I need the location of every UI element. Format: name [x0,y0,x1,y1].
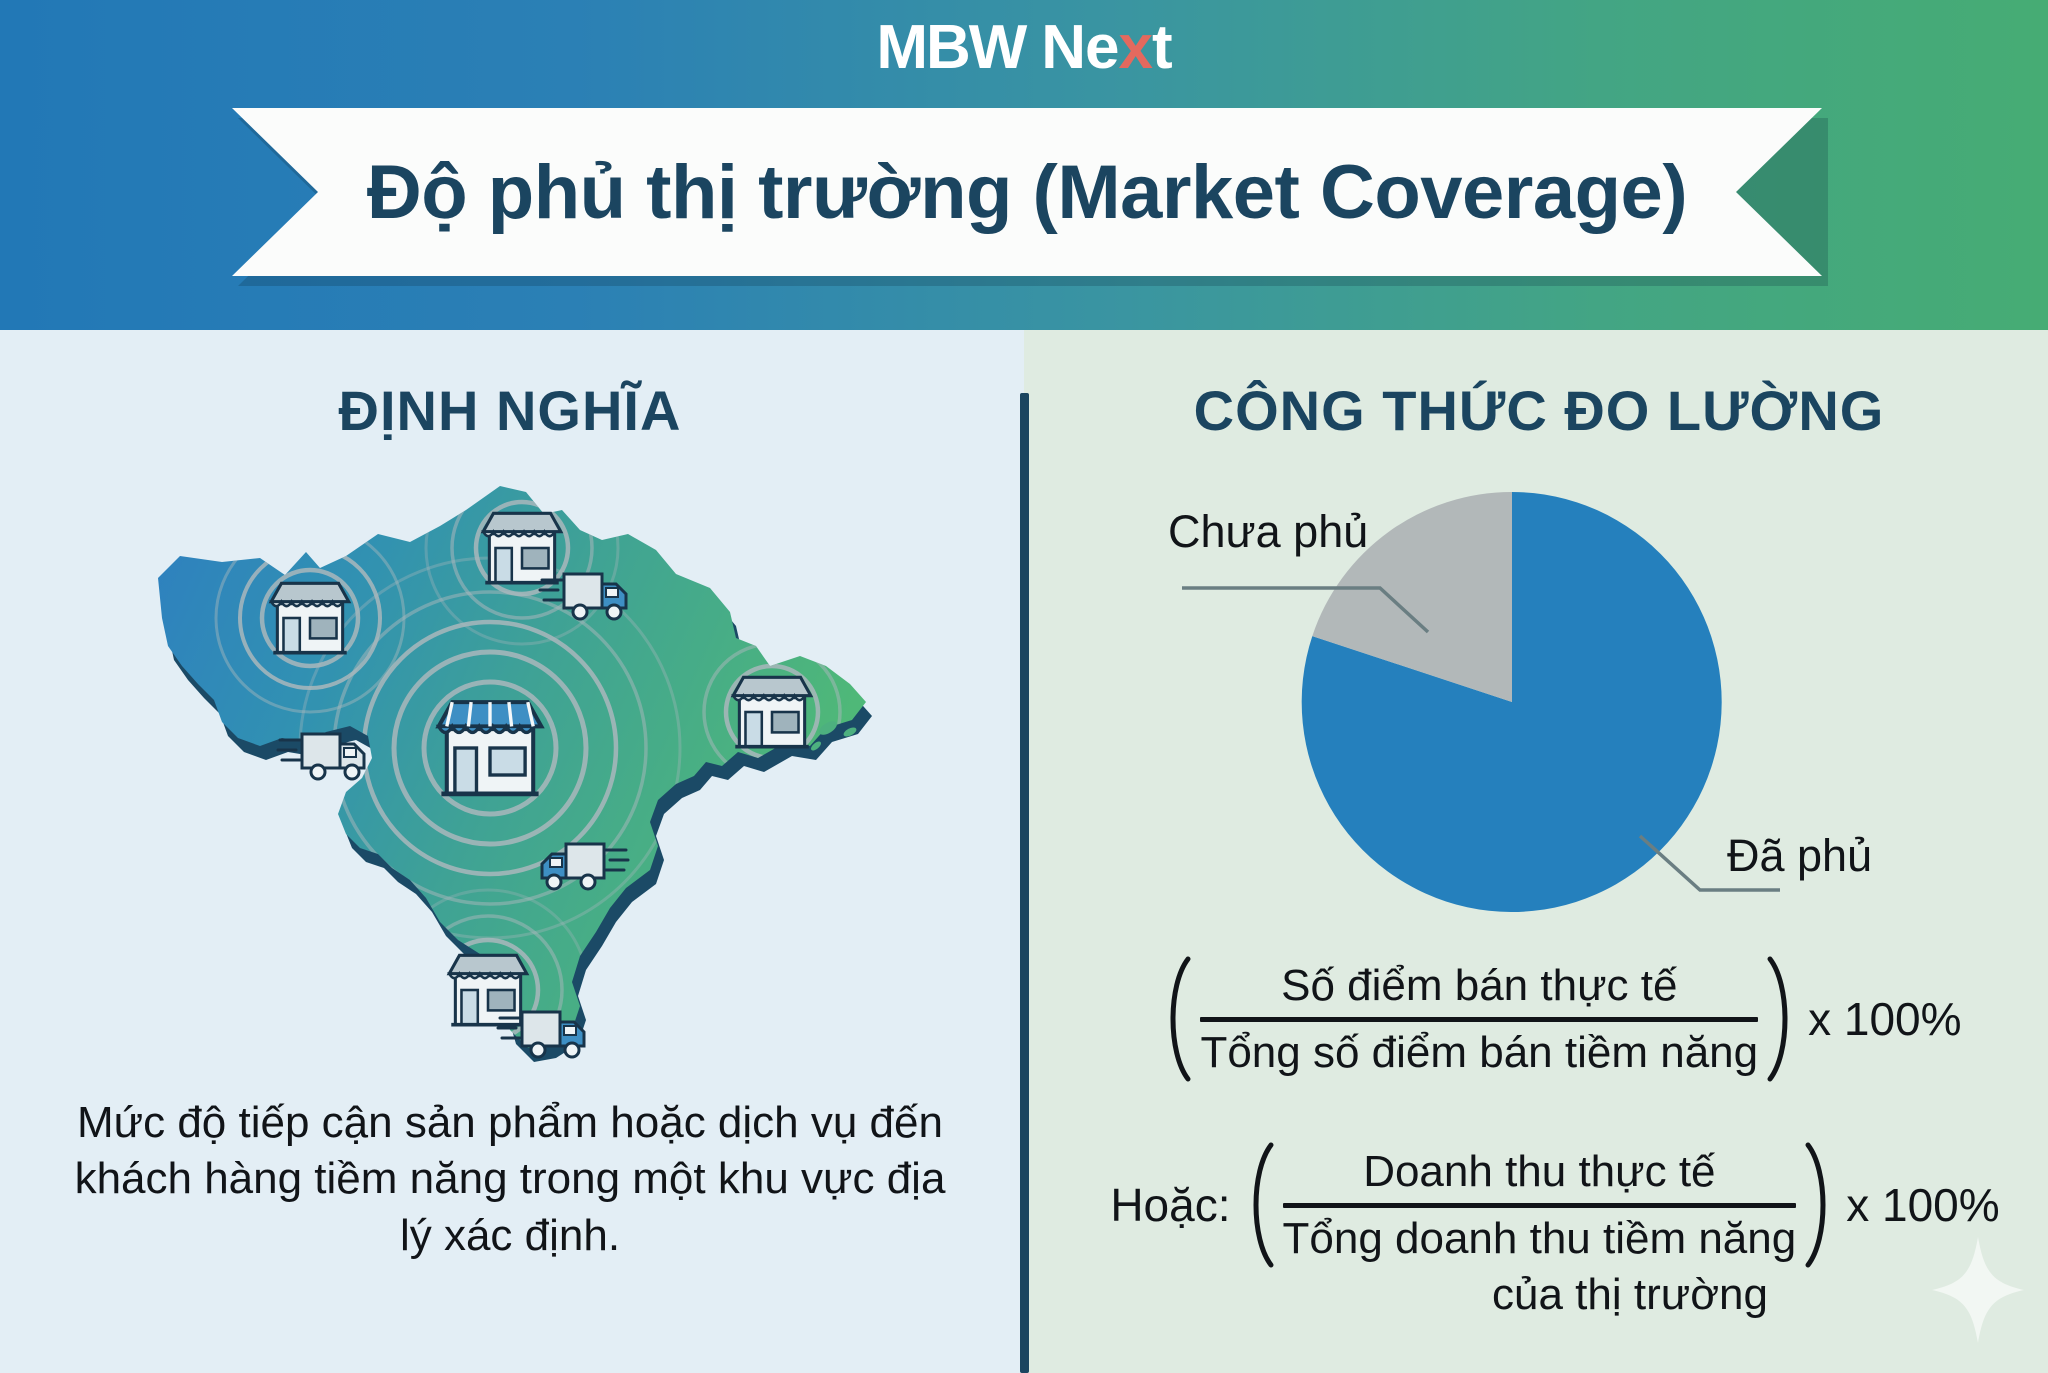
store-icon [271,583,349,652]
ribbon-plate: Độ phủ thị trường (Market Coverage) [232,108,1822,276]
formula-list: Số điểm bán thực tế Tổng số điểm bán tiề… [1080,955,2030,1320]
definition-text: Mức độ tiếp cận sản phẩm hoặc dịch vụ đế… [60,1095,960,1264]
formula-heading: CÔNG THỨC ĐO LƯỜNG [1030,378,2048,443]
fraction-2: Doanh thu thực tế Tổng doanh thu tiềm nă… [1275,1146,1805,1263]
fraction-bar-2 [1283,1203,1797,1208]
right-paren-1 [1766,955,1800,1083]
denominator-2: Tổng doanh thu tiềm năng [1283,1213,1797,1264]
formula-prefix-2: Hoặc: [1110,1178,1230,1232]
sparkle-icon [1930,1235,2026,1345]
page-title: Độ phủ thị trường (Market Coverage) [367,149,1687,236]
title-ribbon: Độ phủ thị trường (Market Coverage) [232,108,1822,276]
right-paren-2 [1804,1141,1838,1269]
formula-row-1: Số điểm bán thực tế Tổng số điểm bán tiề… [1080,955,2030,1083]
brand-logo: MBWNext [0,8,2048,86]
fraction-1: Số điểm bán thực tế Tổng số điểm bán tiề… [1192,960,1766,1077]
panel-divider [1020,393,1029,1373]
denominator-1: Tổng số điểm bán tiềm năng [1200,1027,1758,1078]
store-icon [733,677,811,746]
brand-bw: BW [926,13,1025,82]
pie-label-uncovered: Chưa phủ [1168,506,1368,558]
brand-x-accent: x [1119,13,1152,82]
infographic-root: MBWNext Độ phủ thị trường (Market Covera… [0,0,2048,1373]
formula-suffix-1: x 100% [1808,992,1961,1046]
definition-heading: ĐỊNH NGHĨA [0,378,1020,443]
store-icon [439,702,542,794]
pie-label-covered: Đã phủ [1727,830,1872,882]
brand-ne: Ne [1041,13,1118,82]
brand-t: t [1152,13,1172,82]
coverage-map-illustration [110,470,900,1070]
left-paren-2 [1241,1141,1275,1269]
fraction-bar-1 [1200,1017,1758,1022]
formula-row-2: Hoặc: Doanh thu thực tế Tổng doanh thu t… [1080,1141,2030,1269]
store-icon [449,955,527,1024]
brand-m: M [876,13,926,82]
left-paren-1 [1158,955,1192,1083]
numerator-2: Doanh thu thực tế [1363,1146,1715,1197]
denominator-2-line2: của thị trường [1230,1269,2030,1320]
numerator-1: Số điểm bán thực tế [1281,960,1677,1011]
formula-suffix-2: x 100% [1846,1178,1999,1232]
store-icon [483,513,561,582]
